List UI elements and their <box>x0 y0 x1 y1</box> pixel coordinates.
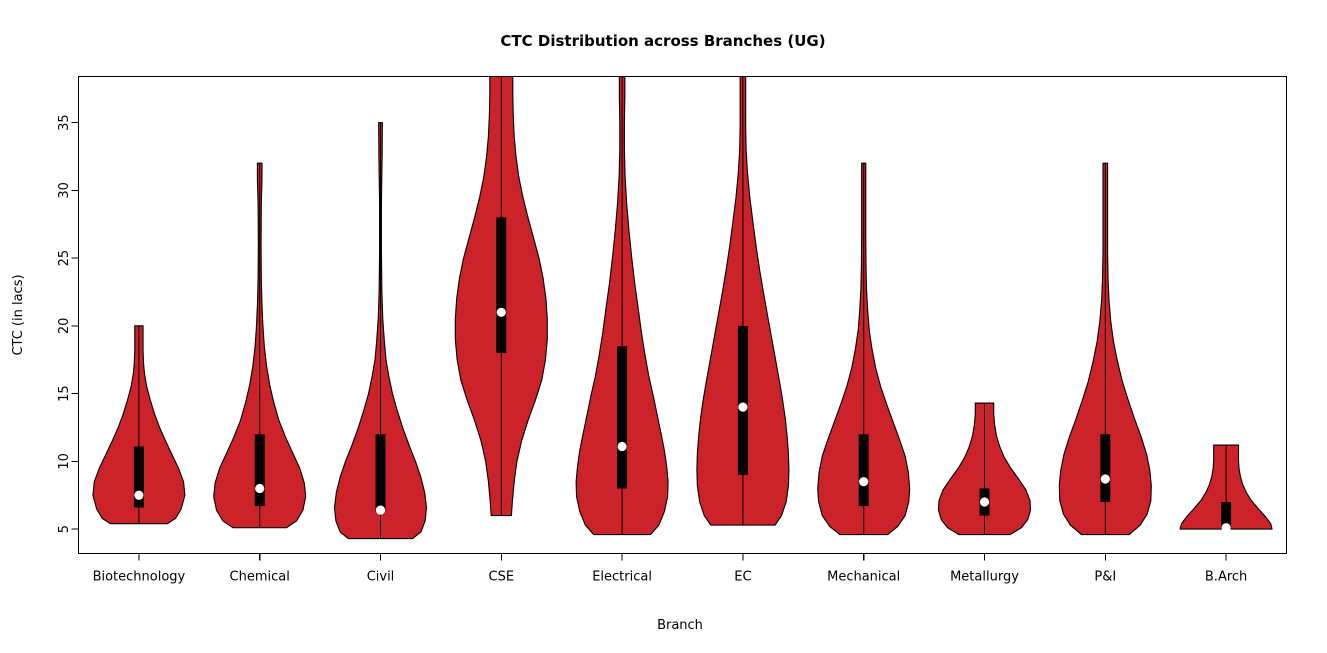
median-marker <box>738 403 747 412</box>
iqr-box <box>617 346 627 488</box>
y-tick-label: 15 <box>57 385 72 402</box>
median-marker <box>134 491 143 500</box>
y-tick-label: 25 <box>57 250 72 267</box>
iqr-box <box>859 434 869 506</box>
y-tick-label: 10 <box>57 453 72 470</box>
iqr-box <box>255 434 265 506</box>
x-tick-label-chemical: Chemical <box>230 570 290 585</box>
x-tick-label-mechanical: Mechanical <box>827 570 900 585</box>
figure-background <box>0 0 1327 653</box>
x-tick-label-cse: CSE <box>489 570 515 585</box>
violin-plot-figure: CTC Distribution across Branches (UG) 51… <box>0 0 1327 653</box>
x-tick-label-civil: Civil <box>367 570 395 585</box>
y-tick-label: 35 <box>57 114 72 131</box>
x-tick-label-electrical: Electrical <box>592 570 652 585</box>
median-marker <box>859 477 868 486</box>
x-tick-label-biotechnology: Biotechnology <box>93 570 186 585</box>
median-marker <box>497 308 506 317</box>
median-marker <box>1222 523 1231 532</box>
x-tick-label-p-i: P&I <box>1094 570 1116 585</box>
iqr-box <box>496 217 506 353</box>
median-marker <box>255 484 264 493</box>
median-marker <box>618 442 627 451</box>
x-tick-label-b-arch: B.Arch <box>1205 570 1247 585</box>
y-tick-label: 5 <box>57 525 72 533</box>
x-tick-label-metallurgy: Metallurgy <box>950 570 1019 585</box>
chart-canvas: CTC Distribution across Branches (UG) 51… <box>0 0 1327 653</box>
iqr-box <box>376 434 386 511</box>
median-marker <box>980 497 989 506</box>
x-axis-title: Branch <box>657 618 703 633</box>
median-marker <box>376 506 385 515</box>
y-tick-label: 20 <box>57 318 72 335</box>
x-tick-label-ec: EC <box>734 570 751 585</box>
median-marker <box>1101 474 1110 483</box>
page-title: CTC Distribution across Branches (UG) <box>500 32 825 50</box>
iqr-box <box>738 326 748 475</box>
iqr-box <box>1100 434 1110 502</box>
y-axis-title: CTC (in lacs) <box>11 274 26 355</box>
y-tick-label: 30 <box>57 182 72 199</box>
